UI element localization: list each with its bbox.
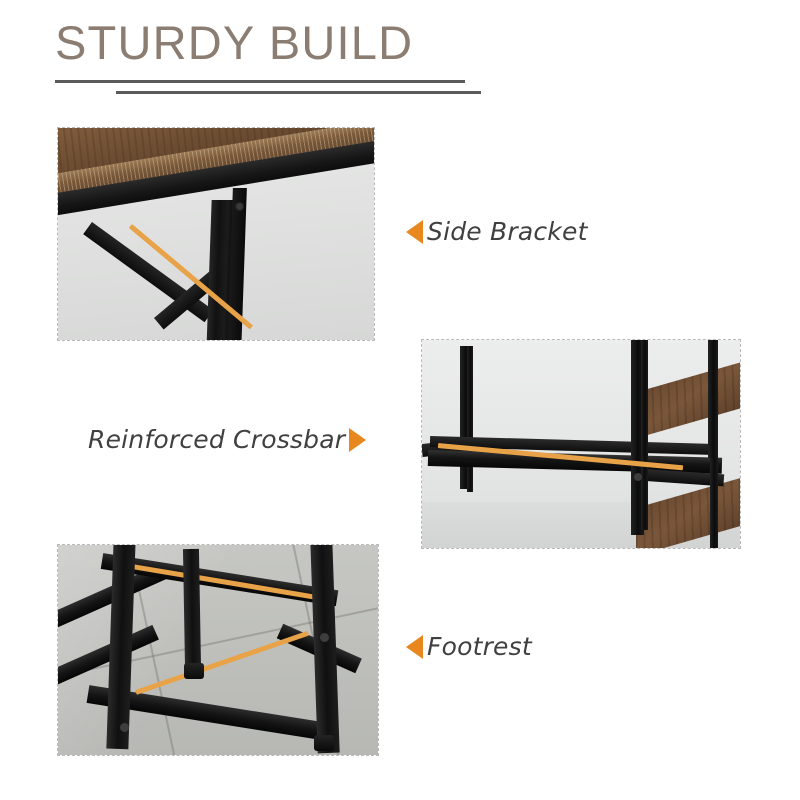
footrest-photo-inner [58, 545, 378, 755]
title-rule-lower [116, 91, 481, 94]
triangle-left-icon [406, 635, 423, 659]
bolt-icon [320, 633, 329, 642]
callout-label: Footrest [427, 632, 532, 661]
triangle-right-icon [349, 428, 366, 452]
page-title: STURDY BUILD [55, 18, 413, 67]
bolt-icon [235, 202, 244, 211]
footrest-photo [58, 545, 378, 755]
title-block: STURDY BUILD [0, 0, 800, 110]
triangle-left-icon [406, 220, 423, 244]
crossbar-photo-inner [422, 340, 740, 548]
metal-leg-right [708, 340, 718, 458]
callout-footrest: Footrest [406, 632, 532, 661]
leveling-foot-icon [314, 735, 334, 751]
callout-reinforced-crossbar: Reinforced Crossbar [88, 425, 366, 454]
metal-leg-right-lower [710, 458, 718, 548]
metal-leg-center [183, 549, 201, 669]
side-bracket-photo-inner [58, 128, 374, 340]
title-rule-upper [55, 80, 465, 83]
reinforced-crossbar-photo [422, 340, 740, 548]
callout-label: Side Bracket [427, 217, 588, 246]
bolt-icon [634, 473, 642, 481]
callout-label: Reinforced Crossbar [88, 425, 345, 454]
callout-side-bracket: Side Bracket [406, 217, 588, 246]
bolt-icon [120, 723, 129, 732]
leveling-foot-icon [184, 663, 204, 679]
infographic-page: STURDY BUILD [0, 0, 800, 800]
metal-leg-left-face [467, 346, 473, 492]
side-bracket-photo [58, 128, 374, 340]
metal-leg-center-face [641, 340, 648, 530]
